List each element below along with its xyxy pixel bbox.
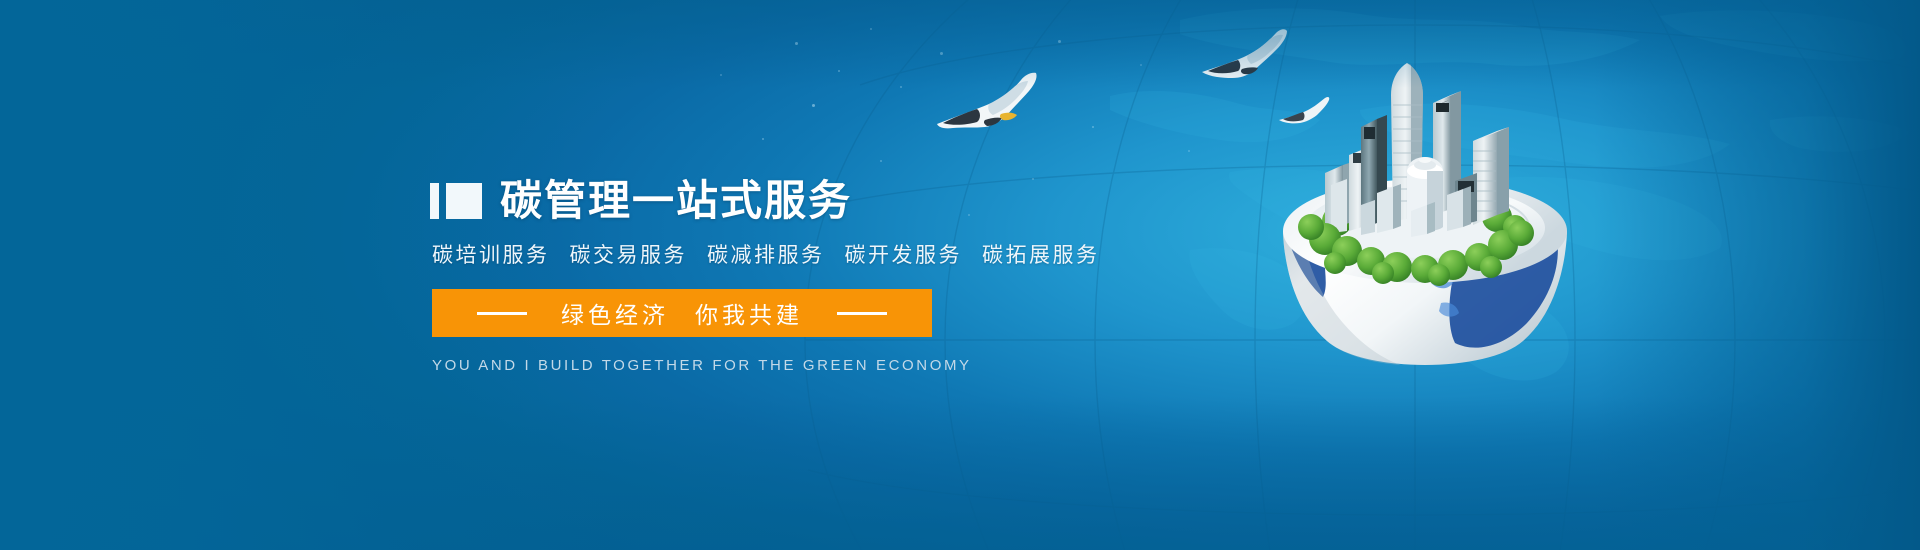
slogan-banner: 绿色经济 你我共建: [432, 289, 932, 337]
english-tagline: YOU AND I BUILD TOGETHER FOR THE GREEN E…: [432, 357, 1050, 374]
service-list: 碳培训服务 碳交易服务 碳减排服务 碳开发服务 碳拓展服务: [432, 239, 1050, 269]
dash-right-icon: [837, 312, 887, 315]
service-item[interactable]: 碳开发服务: [845, 239, 963, 269]
carbon-management-hero-banner: 碳管理一站式服务 碳培训服务 碳交易服务 碳减排服务 碳开发服务 碳拓展服务 绿…: [0, 0, 1920, 550]
service-item[interactable]: 碳培训服务: [432, 239, 550, 269]
service-item[interactable]: 碳拓展服务: [982, 239, 1100, 269]
page-title: 碳管理一站式服务: [500, 180, 852, 222]
slogan-text: 绿色经济 你我共建: [561, 296, 803, 330]
dash-left-icon: [477, 312, 527, 315]
service-item[interactable]: 碳交易服务: [570, 239, 688, 269]
service-item[interactable]: 碳减排服务: [707, 239, 825, 269]
title-decoration-icon: [430, 183, 482, 219]
slogan-left: 绿色经济: [561, 296, 669, 330]
banner-content: 碳管理一站式服务 碳培训服务 碳交易服务 碳减排服务 碳开发服务 碳拓展服务 绿…: [430, 180, 1050, 374]
title-row: 碳管理一站式服务: [430, 180, 1050, 222]
slogan-right: 你我共建: [695, 296, 803, 330]
